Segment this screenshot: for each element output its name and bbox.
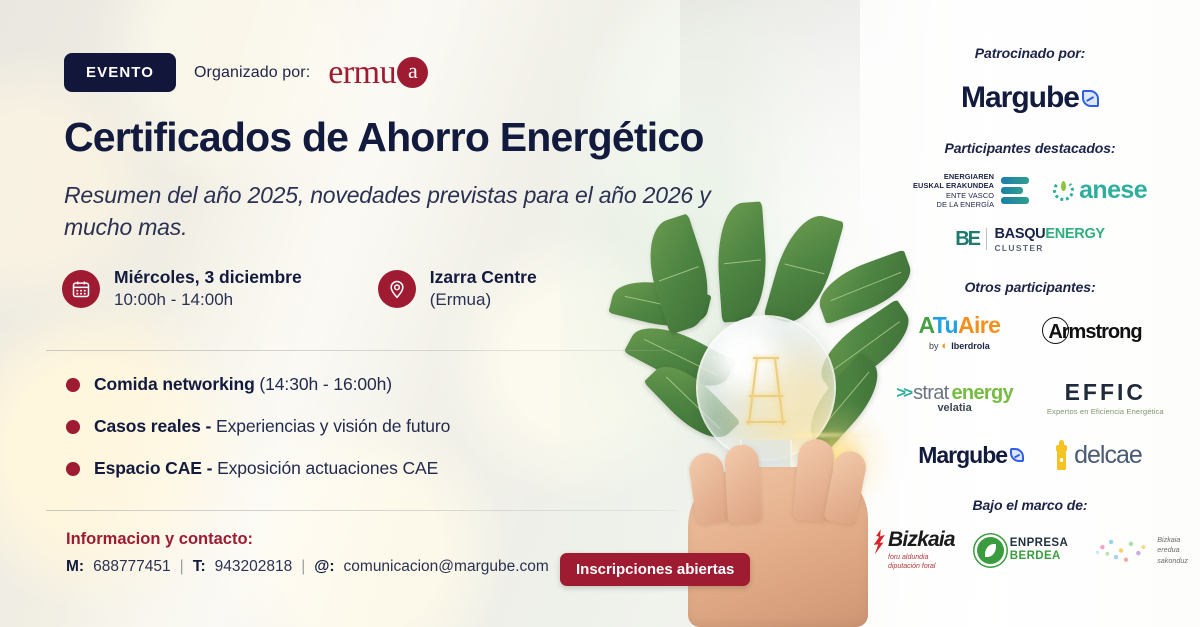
ermua-logo-text: ermu bbox=[328, 56, 396, 90]
others-heading: Otros participantes: bbox=[860, 279, 1200, 295]
eredua-line3: sakonduz bbox=[1157, 556, 1188, 566]
enpresa-line1: ENPRESA bbox=[1010, 538, 1068, 550]
bizkaia-logo[interactable]: Bizkaia foru aldundia diputación foral bbox=[872, 529, 955, 571]
atuaire-logo[interactable]: ATuAire by ◐ Iberdrola bbox=[918, 312, 1000, 352]
eve-mark-icon bbox=[1001, 177, 1029, 204]
margube-wordmark: Margube bbox=[961, 81, 1079, 115]
chevron-right-icon: >> bbox=[896, 383, 910, 403]
anese-wordmark: anese bbox=[1079, 176, 1147, 205]
atuaire-tu: Tu bbox=[933, 312, 958, 338]
atuaire-by: by bbox=[929, 341, 939, 351]
event-date: Miércoles, 3 diciembre 10:00h - 14:00h bbox=[62, 266, 302, 312]
list-item-rest: (14:30h - 16:00h) bbox=[255, 374, 392, 394]
ermua-logo-mark: a bbox=[397, 57, 428, 88]
margube-logo-main[interactable]: Margube bbox=[961, 81, 1099, 115]
list-item-rest: Exposición actuaciones CAE bbox=[212, 458, 438, 478]
list-item: Espacio CAE - Exposición actuaciones CAE bbox=[66, 458, 450, 479]
divider-top bbox=[46, 350, 676, 351]
email-address[interactable]: comunicacion@margube.com bbox=[344, 558, 549, 576]
atuaire-aire: Aire bbox=[958, 312, 1000, 338]
framework-heading: Bajo el marco de: bbox=[860, 497, 1200, 513]
basquenergy-part-b: ENERGY bbox=[1045, 226, 1104, 242]
main-content: EVENTO Organizado por: ermu a Certificad… bbox=[0, 0, 760, 627]
event-date-line1: Miércoles, 3 diciembre bbox=[114, 267, 302, 287]
enpresa-berdea-logo[interactable]: ENPRESA BERDEA bbox=[977, 537, 1068, 564]
armstrong-logo[interactable]: Armstrong bbox=[1044, 321, 1141, 344]
contact-heading: Informacion y contacto: bbox=[66, 530, 253, 549]
sponsor-rail: Patrocinado por: Margube Participantes d… bbox=[860, 0, 1200, 627]
leaf-icon bbox=[1082, 90, 1099, 107]
separator: | bbox=[301, 558, 305, 576]
sponsor-heading: Patrocinado por: bbox=[860, 45, 1200, 61]
event-meta: Miércoles, 3 diciembre 10:00h - 14:00h I… bbox=[62, 266, 537, 312]
featured-heading: Participantes destacados: bbox=[860, 140, 1200, 156]
lighthouse-icon bbox=[1054, 440, 1069, 470]
margube-wordmark: Margube bbox=[918, 442, 1007, 469]
iberdrola-icon: ◐ bbox=[942, 340, 949, 352]
bizkaia-sub1: foru aldundia bbox=[888, 553, 955, 562]
ermua-logo[interactable]: ermu a bbox=[328, 56, 428, 90]
list-item-rest: Experiencias y visión de futuro bbox=[211, 416, 450, 436]
event-badge: EVENTO bbox=[64, 53, 176, 92]
eve-logo[interactable]: ENERGIAREN EUSKAL ERAKUNDEA ENTE VASCO D… bbox=[913, 172, 1029, 210]
eredua-line1: Bizkaia bbox=[1157, 535, 1188, 545]
list-item: Casos reales - Experiencias y visión de … bbox=[66, 416, 450, 437]
page-title: Certificados de Ahorro Energético bbox=[64, 116, 704, 159]
enpresa-line2: BERDEA bbox=[1010, 551, 1068, 563]
anese-mark-icon bbox=[1053, 180, 1074, 201]
bullet-dot-icon bbox=[66, 462, 80, 476]
divider bbox=[986, 228, 988, 250]
event-poster: EVENTO Organizado por: ermu a Certificad… bbox=[0, 0, 1200, 627]
mobile-label: M: bbox=[66, 558, 84, 576]
atuaire-parent: Iberdrola bbox=[951, 341, 990, 351]
effic-sub: Expertos en Eficiencia Energética bbox=[1047, 407, 1164, 416]
mobile-number[interactable]: 688777451 bbox=[93, 558, 171, 576]
event-venue-line1: Izarra Centre bbox=[430, 267, 537, 287]
page-subtitle: Resumen del año 2025, novedades prevista… bbox=[64, 180, 724, 243]
event-venue-line2: (Ermua) bbox=[430, 290, 491, 309]
eredua-line2: eredua bbox=[1157, 545, 1188, 555]
basquenergy-part-a: BASQU bbox=[994, 226, 1045, 242]
eve-line3: ENTE VASCO bbox=[913, 191, 994, 200]
margube-logo-other[interactable]: Margube bbox=[918, 442, 1024, 469]
armstrong-ring-icon bbox=[1042, 317, 1069, 344]
bizkaia-eredua-logo[interactable]: Bizkaia eredua sakonduz bbox=[1090, 534, 1188, 567]
bizkaia-sub2: diputación foral bbox=[888, 562, 955, 571]
delcae-wordmark: delcae bbox=[1074, 441, 1142, 470]
basquenergy-logo[interactable]: BE BASQUENERGY CLUSTER bbox=[955, 226, 1105, 253]
list-item-strong: Comida networking bbox=[94, 374, 255, 394]
organized-by-label: Organizado por: bbox=[194, 64, 310, 82]
delcae-logo[interactable]: delcae bbox=[1054, 440, 1142, 470]
basquenergy-sub: CLUSTER bbox=[994, 244, 1104, 253]
gear-leaf-icon bbox=[977, 537, 1004, 564]
event-venue: Izarra Centre (Ermua) bbox=[378, 266, 537, 312]
bullet-dot-icon bbox=[66, 378, 80, 392]
list-item-strong: Casos reales - bbox=[94, 416, 211, 436]
event-date-line2: 10:00h - 14:00h bbox=[114, 290, 233, 309]
effic-wordmark: EFFIC bbox=[1047, 379, 1164, 406]
email-label: @: bbox=[314, 558, 334, 576]
list-item: Comida networking (14:30h - 16:00h) bbox=[66, 374, 450, 395]
dotted-map-icon bbox=[1090, 534, 1152, 567]
effic-logo[interactable]: EFFIC Expertos en Eficiencia Energética bbox=[1047, 379, 1164, 416]
eve-line1: ENERGIAREN bbox=[913, 172, 994, 181]
stratenergy-logo[interactable]: >> stratenergy velatia bbox=[896, 382, 1013, 414]
registration-cta-button[interactable]: Inscripciones abiertas bbox=[560, 553, 750, 586]
leaf-icon bbox=[1010, 448, 1024, 462]
flame-icon bbox=[872, 529, 886, 554]
phone-label: T: bbox=[193, 558, 206, 576]
bizkaia-wordmark: Bizkaia bbox=[888, 528, 955, 551]
basquenergy-mark-icon: BE bbox=[955, 228, 979, 251]
eve-line4: DE LA ENERGÍA bbox=[913, 200, 994, 209]
agenda-list: Comida networking (14:30h - 16:00h) Caso… bbox=[66, 374, 450, 500]
separator: | bbox=[180, 558, 184, 576]
divider-bottom bbox=[46, 510, 676, 511]
phone-number[interactable]: 943202818 bbox=[215, 558, 293, 576]
anese-logo[interactable]: anese bbox=[1053, 176, 1147, 205]
atuaire-a: A bbox=[918, 312, 932, 338]
eve-line2: EUSKAL ERAKUNDEA bbox=[913, 181, 994, 190]
header-row: EVENTO Organizado por: ermu a bbox=[64, 53, 428, 92]
location-pin-icon bbox=[378, 270, 416, 308]
list-item-strong: Espacio CAE - bbox=[94, 458, 212, 478]
contact-details: M: 688777451 | T: 943202818 | @: comunic… bbox=[66, 558, 549, 576]
calendar-icon bbox=[62, 270, 100, 308]
bullet-dot-icon bbox=[66, 420, 80, 434]
